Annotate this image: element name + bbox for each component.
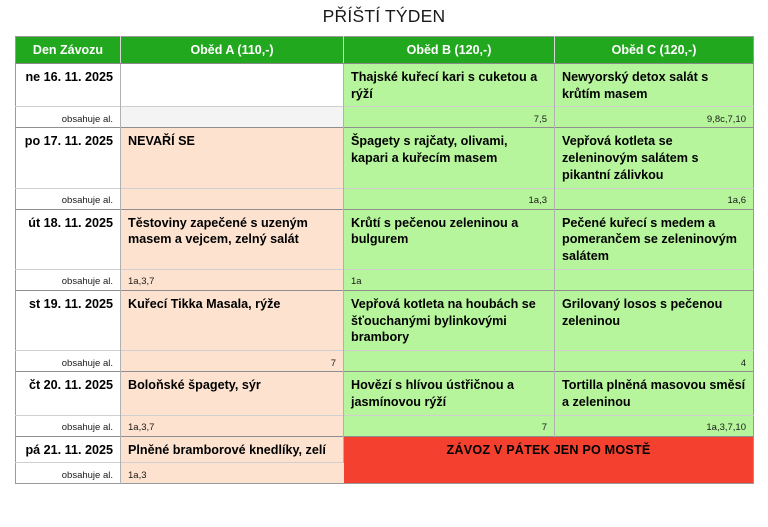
meal-cell-b: Vepřová kotleta na houbách se šťouchaným…: [344, 290, 555, 350]
allergen-cell-b: 1a,3: [344, 188, 555, 209]
day-cell: po 17. 11. 2025: [16, 128, 121, 188]
table-body: ne 16. 11. 2025 Thajské kuřecí kari s cu…: [16, 64, 754, 484]
day-cell: pá 21. 11. 2025: [16, 436, 121, 463]
delivery-notice-banner: ZÁVOZ V PÁTEK JEN PO MOSTĚ: [344, 436, 754, 484]
allergen-cell-c: 1a,3,7,10: [555, 415, 754, 436]
meal-cell-a: Kuřecí Tikka Masala, rýže: [121, 290, 344, 350]
meal-cell-b: Hovězí s hlívou ústřičnou a jasmínovou r…: [344, 372, 555, 415]
allergen-label: obsahuje al.: [16, 188, 121, 209]
allergen-cell-c: 9,8c,7,10: [555, 107, 754, 128]
meal-cell-b: Thajské kuřecí kari s cuketou a rýží: [344, 64, 555, 107]
allergen-cell-a: [121, 188, 344, 209]
allergen-row: obsahuje al. 7,5 9,8c,7,10: [16, 107, 754, 128]
meal-cell-b: Špagety s rajčaty, olivami, kapari a kuř…: [344, 128, 555, 188]
allergen-row: obsahuje al. 1a,3,7 1a: [16, 269, 754, 290]
allergen-label: obsahuje al.: [16, 463, 121, 484]
column-header-day: Den Závozu: [16, 37, 121, 64]
allergen-cell-a: [121, 107, 344, 128]
allergen-cell-b: 7: [344, 415, 555, 436]
meal-cell-c: Tortilla plněná masovou směsí a zelenino…: [555, 372, 754, 415]
allergen-row: obsahuje al. 1a,3,7 7 1a,3,7,10: [16, 415, 754, 436]
day-cell: ne 16. 11. 2025: [16, 64, 121, 107]
allergen-cell-b: 1a: [344, 269, 555, 290]
allergen-cell-b: 7,5: [344, 107, 555, 128]
allergen-cell-b: [344, 351, 555, 372]
allergen-label: obsahuje al.: [16, 351, 121, 372]
header-row: Den Závozu Oběd A (110,-) Oběd B (120,-)…: [16, 37, 754, 64]
day-cell: út 18. 11. 2025: [16, 209, 121, 269]
meal-cell-a: [121, 64, 344, 107]
allergen-cell-c: [555, 269, 754, 290]
menu-table-container: Den Závozu Oběd A (110,-) Oběd B (120,-)…: [15, 36, 753, 484]
meal-cell-a: Plněné bramborové knedlíky, zelí: [121, 436, 344, 463]
table-row: pá 21. 11. 2025 Plněné bramborové knedlí…: [16, 436, 754, 463]
table-row: čt 20. 11. 2025 Boloňské špagety, sýr Ho…: [16, 372, 754, 415]
meal-cell-c: Pečené kuřecí s medem a pomerančem se ze…: [555, 209, 754, 269]
table-row: ne 16. 11. 2025 Thajské kuřecí kari s cu…: [16, 64, 754, 107]
allergen-cell-c: 4: [555, 351, 754, 372]
table-row: po 17. 11. 2025 NEVAŘÍ SE Špagety s rajč…: [16, 128, 754, 188]
table-header: Den Závozu Oběd A (110,-) Oběd B (120,-)…: [16, 37, 754, 64]
meal-cell-a: Těstoviny zapečené s uzeným masem a vejc…: [121, 209, 344, 269]
day-cell: st 19. 11. 2025: [16, 290, 121, 350]
day-cell: čt 20. 11. 2025: [16, 372, 121, 415]
column-header-lunch-a: Oběd A (110,-): [121, 37, 344, 64]
meal-cell-a: NEVAŘÍ SE: [121, 128, 344, 188]
allergen-cell-a: 7: [121, 351, 344, 372]
allergen-cell-a: 1a,3,7: [121, 415, 344, 436]
meal-cell-b: Krůtí s pečenou zeleninou a bulgurem: [344, 209, 555, 269]
weekly-menu-table: Den Závozu Oběd A (110,-) Oběd B (120,-)…: [15, 36, 754, 484]
allergen-row: obsahuje al. 7 4: [16, 351, 754, 372]
allergen-cell-a: 1a,3,7: [121, 269, 344, 290]
allergen-cell-c: 1a,6: [555, 188, 754, 209]
meal-cell-c: Newyorský detox salát s krůtím masem: [555, 64, 754, 107]
meal-cell-c: Grilovaný losos s pečenou zeleninou: [555, 290, 754, 350]
table-row: út 18. 11. 2025 Těstoviny zapečené s uze…: [16, 209, 754, 269]
allergen-label: obsahuje al.: [16, 269, 121, 290]
allergen-row: obsahuje al. 1a,3 1a,6: [16, 188, 754, 209]
meal-cell-a: Boloňské špagety, sýr: [121, 372, 344, 415]
table-row: st 19. 11. 2025 Kuřecí Tikka Masala, rýž…: [16, 290, 754, 350]
column-header-lunch-b: Oběd B (120,-): [344, 37, 555, 64]
allergen-label: obsahuje al.: [16, 107, 121, 128]
allergen-cell-a: 1a,3: [121, 463, 344, 484]
meal-cell-c: Vepřová kotleta se zeleninovým salátem s…: [555, 128, 754, 188]
page-title: PŘÍŠTÍ TÝDEN: [0, 0, 768, 29]
column-header-lunch-c: Oběd C (120,-): [555, 37, 754, 64]
allergen-label: obsahuje al.: [16, 415, 121, 436]
